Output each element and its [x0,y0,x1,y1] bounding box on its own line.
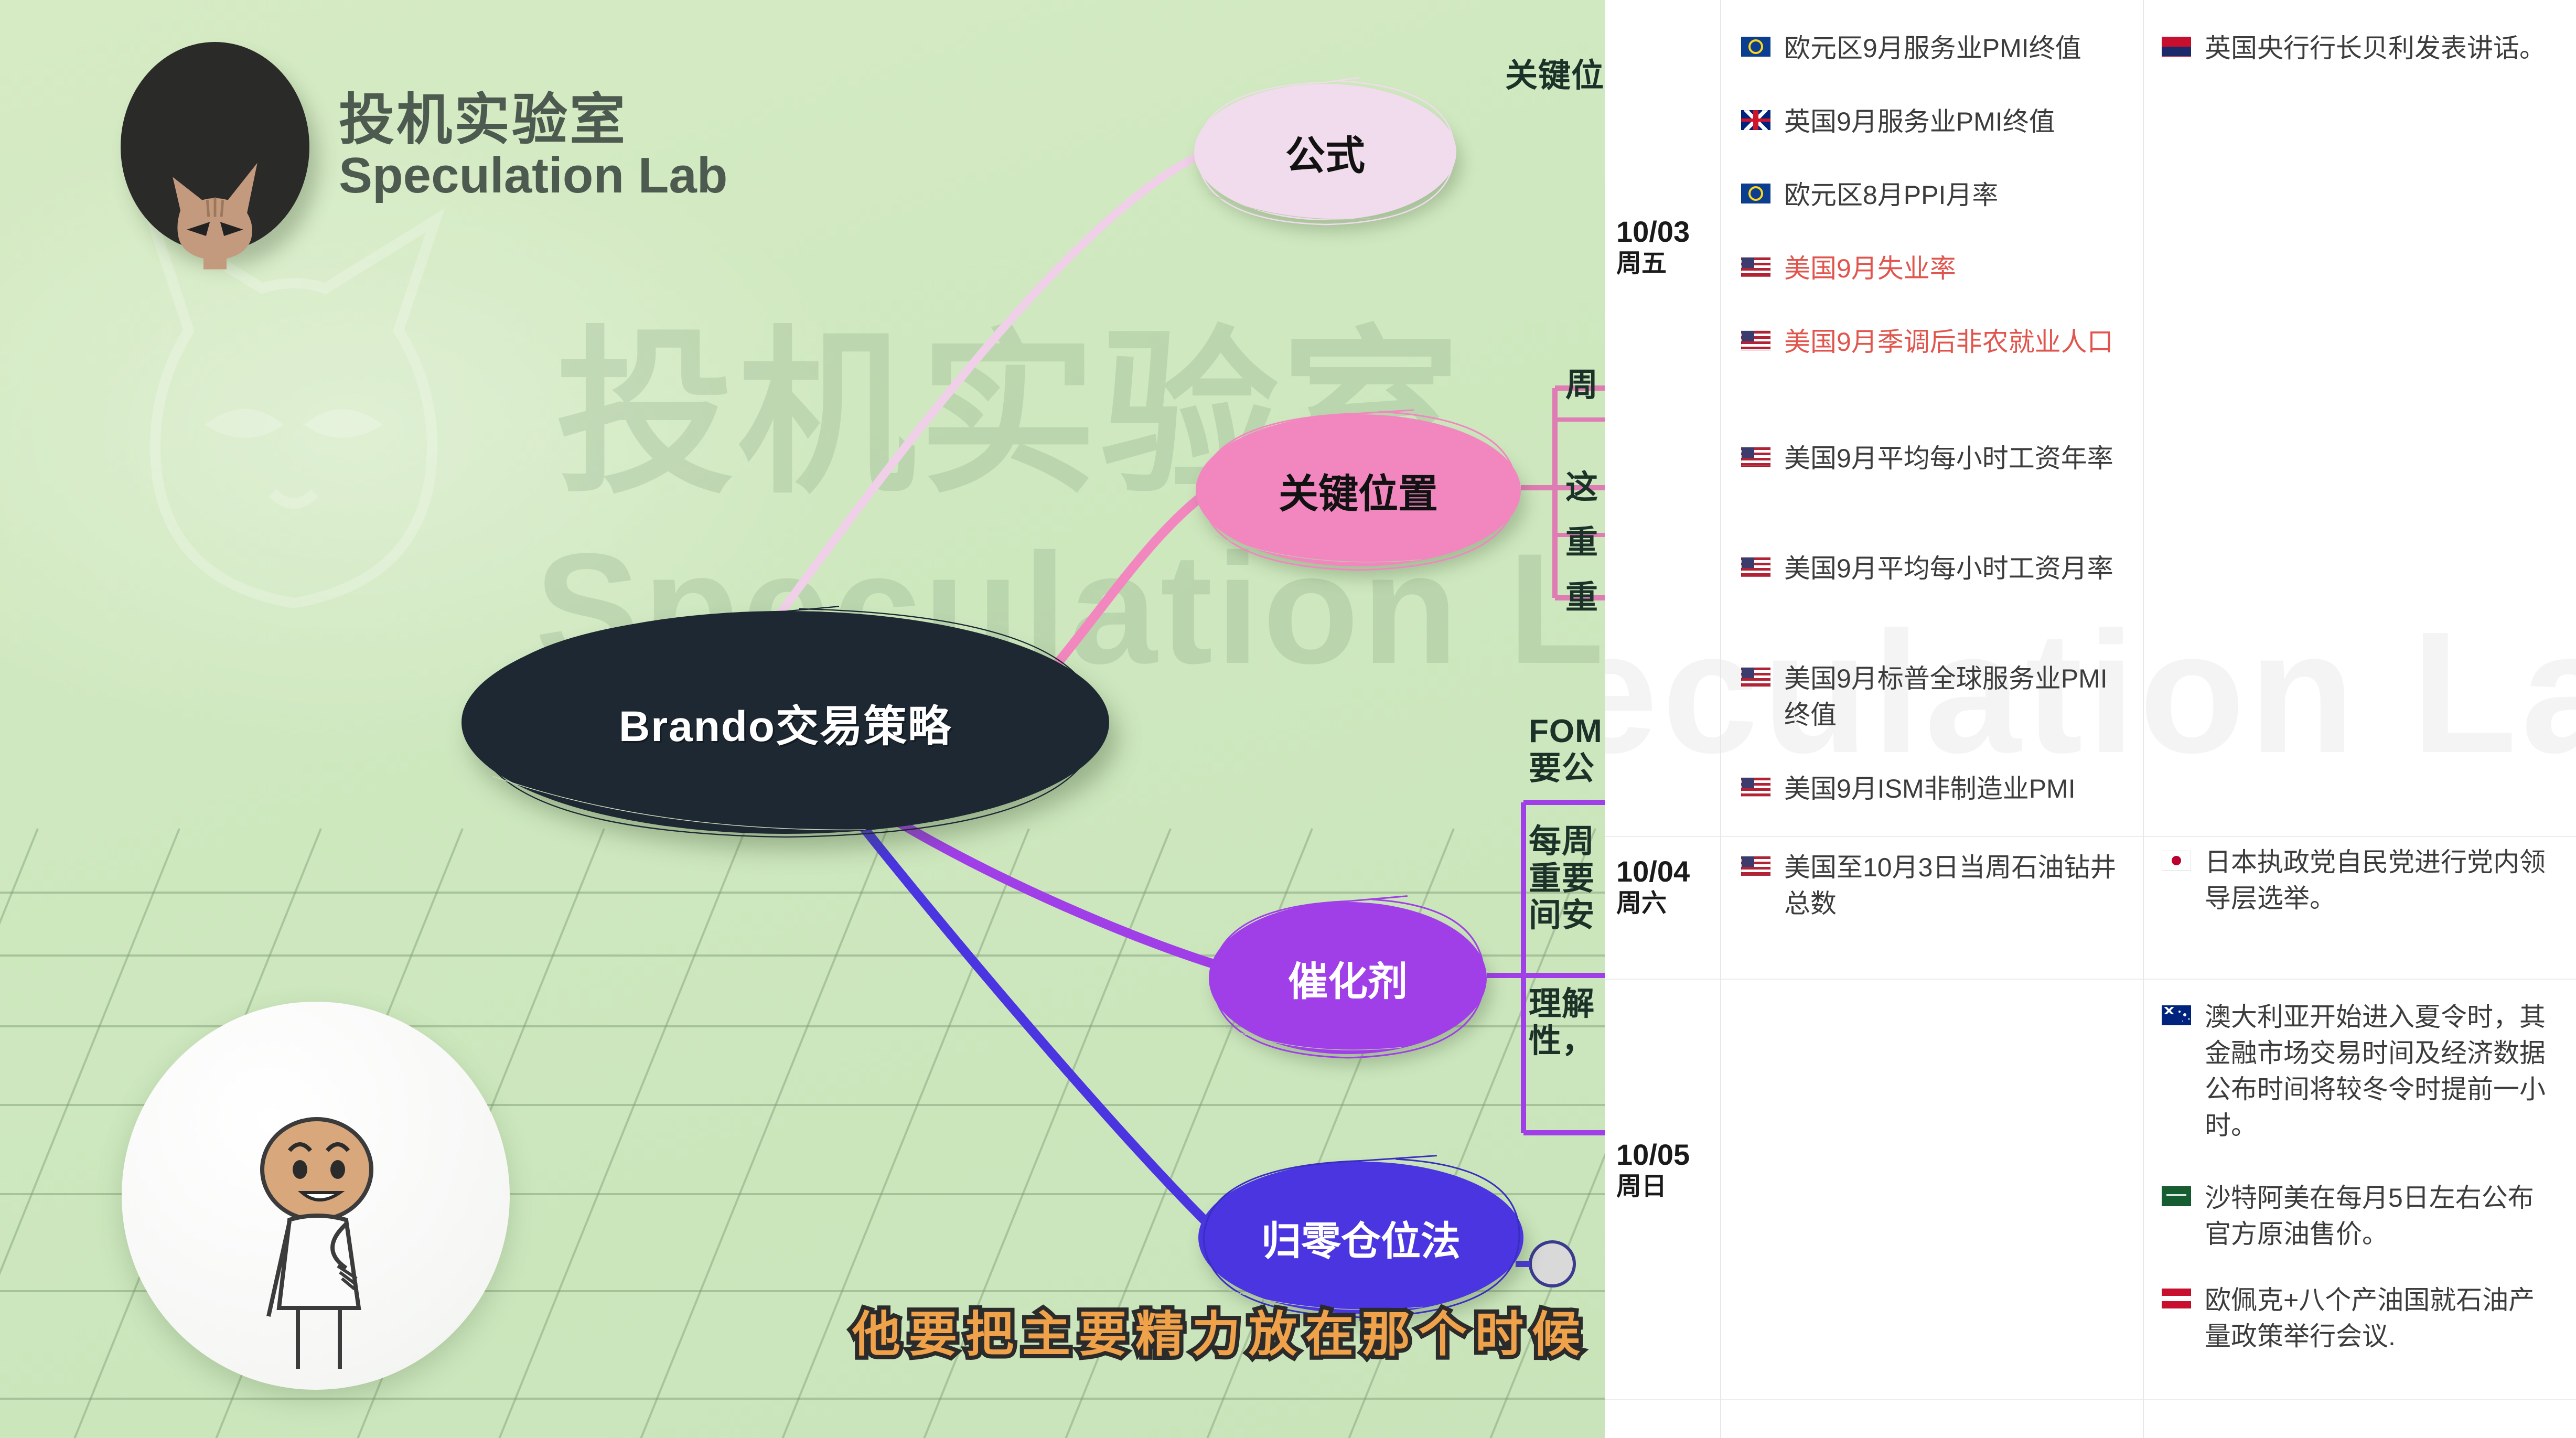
weekday-value: 周五 [1616,249,1720,279]
event-text: 美国至10月3日当周石油钻井总数 [1784,850,2127,922]
note-text: 沙特阿美在每月5日左右公布官方原油售价。 [2205,1180,2552,1252]
calendar-note-row[interactable]: 英国央行行长贝利发表讲话。 [2144,30,2575,67]
calendar-note-row[interactable]: 澳大利亚开始进入夏令时，其金融市场交易时间及经济数据公布时间将较冬令时提前一小时… [2144,999,2575,1144]
note-text: 英国央行行长贝利发表讲话。 [2205,30,2546,67]
stick-figure-icon [122,1002,510,1390]
sublabel-fomc: FOM 要公 [1529,713,1603,787]
calendar-event-row[interactable]: 美国9月ISM非制造业PMI [1721,771,2143,807]
sublabel-zhong-1: 重 [1565,524,1598,562]
sublabel-keylevel: 关键位 [1505,58,1604,95]
date-value: 10/05 [1616,1138,1720,1172]
sublabel-weekly: 每周 重要 间安 [1529,823,1595,935]
uk-flag-icon [1741,110,1770,130]
note-text: 澳大利亚开始进入夏令时，其金融市场交易时间及经济数据公布时间将较冬令时提前一小时… [2205,999,2552,1144]
event-text: 欧元区8月PPI月率 [1784,177,1998,213]
jp-flag-icon [2162,851,2191,871]
node-label: 关键位置 [1279,462,1438,519]
opec-flag-icon [2162,1289,2191,1308]
event-text: 美国9月季调后非农就业人口 [1784,324,2113,360]
date-value: 10/04 [1616,855,1720,888]
note-text: 日本执政党自民党进行党内领导层选举。 [2205,844,2552,917]
event-text: 欧元区9月服务业PMI终值 [1784,30,2081,67]
avatar [122,1002,510,1390]
us-flag-icon [1741,856,1770,876]
eu-flag-icon [1741,184,1770,203]
sublabel-understand: 理解 性， [1529,986,1595,1060]
mindmap-node-key-level[interactable]: 关键位置 [1196,414,1521,566]
calendar-event-row[interactable]: 英国9月服务业PMI终值 [1721,104,2143,140]
event-text: 英国9月服务业PMI终值 [1784,104,2055,140]
logo-badge [121,42,309,252]
sa-flag-icon [2162,1186,2191,1206]
node-label: 归零仓位法 [1261,1209,1461,1267]
cat-mascot-icon [149,155,281,271]
calendar-notes-column: 英国央行行长贝利发表讲话。 日本执政党自民党进行党内领导层选举。 澳大利亚开始进… [2144,0,2575,1438]
sublabel-zhe: 这 [1565,469,1598,507]
au-flag-icon [2162,1005,2191,1025]
calendar-event-column: 欧元区9月服务业PMI终值 英国9月服务业PMI终值 欧元区8月PPI月率 美国… [1721,0,2144,1438]
node-label: Brando交易策略 [619,691,952,754]
calendar-event-row[interactable]: 美国9月平均每小时工资月率 [1721,551,2143,587]
note-text: 欧佩克+八个产油国就石油产量政策举行会议. [2205,1282,2552,1355]
brand-header: 投机实验室 Speculation Lab [121,42,727,252]
mindmap-node-zero-position[interactable]: 归零仓位法 [1198,1162,1523,1314]
event-text: 美国9月平均每小时工资年率 [1784,441,2113,477]
brand-name-en: Speculation Lab [339,149,727,202]
calendar-event-row[interactable]: 美国9月季调后非农就业人口 [1721,324,2143,360]
sublabel-zhou: 周 [1565,367,1598,404]
us-flag-icon [1741,447,1770,467]
node-label: 催化剂 [1288,949,1408,1007]
event-text: 美国9月ISM非制造业PMI [1784,771,2076,807]
event-text: 美国9月失业率 [1784,251,1956,287]
node-label: 公式 [1285,123,1365,181]
economic-calendar-panel: Speculation Lab 10/03 周五 10/04 周六 10/05 … [1605,0,2576,1438]
us-flag-icon [1741,777,1770,797]
sublabel-zhong-2: 重 [1565,580,1598,617]
weekday-value: 周日 [1616,1172,1720,1202]
mindmap-canvas: 投机实验室 Speculation Lab 关键位 周 这 重 重 FOM 要公… [0,0,1605,1438]
date-cell: 10/04 周六 [1605,855,1720,919]
subtitle-caption: 他要把主要精力放在那个时候 [852,1295,1588,1365]
mindmap-node-root[interactable]: Brando交易策略 [461,611,1109,834]
calendar-note-row[interactable]: 欧佩克+八个产油国就石油产量政策举行会议. [2144,1282,2575,1355]
calendar-note-row[interactable]: 日本执政党自民党进行党内领导层选举。 [2144,844,2575,917]
eu-flag-icon [1741,37,1770,57]
weekday-value: 周六 [1616,888,1720,919]
cat-watermark-icon [31,173,556,697]
calendar-event-row[interactable]: 欧元区9月服务业PMI终值 [1721,30,2143,67]
calendar-event-row[interactable]: 欧元区8月PPI月率 [1721,177,2143,213]
calendar-event-row[interactable]: 美国9月标普全球服务业PMI终值 [1721,661,2143,733]
date-value: 10/03 [1616,215,1720,249]
calendar-event-row[interactable]: 美国9月失业率 [1721,251,2143,287]
gb-flag-icon [2162,37,2191,57]
calendar-event-row[interactable]: 美国至10月3日当周石油钻井总数 [1721,850,2143,922]
event-text: 美国9月标普全球服务业PMI终值 [1784,661,2127,733]
event-text: 美国9月平均每小时工资月率 [1784,551,2113,587]
date-cell: 10/05 周日 [1605,1138,1720,1202]
mindmap-node-formula[interactable]: 公式 [1194,84,1456,220]
us-flag-icon [1741,330,1770,350]
us-flag-icon [1741,257,1770,277]
us-flag-icon [1741,557,1770,577]
calendar-event-row[interactable]: 美国9月平均每小时工资年率 [1721,441,2143,477]
calendar-note-row[interactable]: 沙特阿美在每月5日左右公布官方原油售价。 [2144,1180,2575,1252]
brand-name-cn: 投机实验室 [339,91,727,149]
date-cell: 10/03 周五 [1605,215,1720,279]
us-flag-icon [1741,667,1770,687]
mindmap-node-catalyst[interactable]: 催化剂 [1209,902,1487,1054]
calendar-date-column: 10/03 周五 10/04 周六 10/05 周日 [1605,0,1721,1438]
